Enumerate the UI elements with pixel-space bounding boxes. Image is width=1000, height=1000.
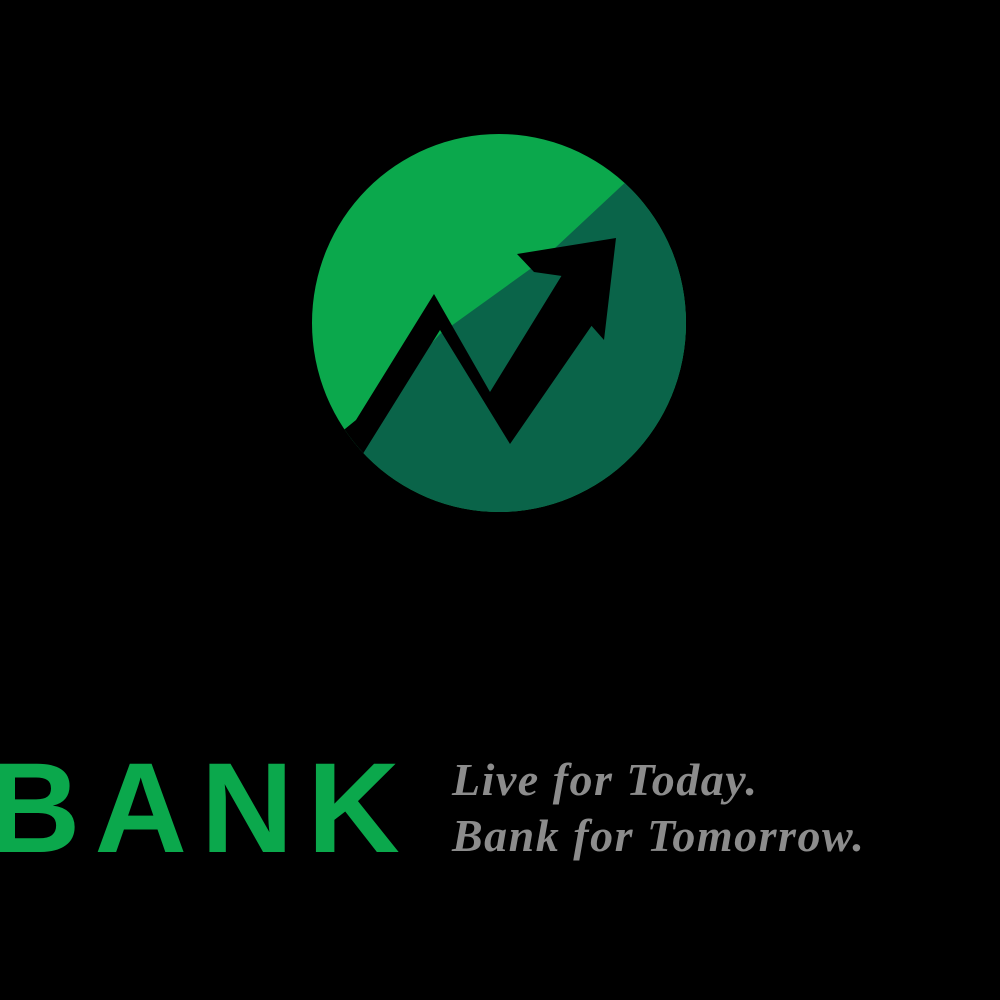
wordmark-text: BANK xyxy=(0,744,408,874)
wordmark: BANK xyxy=(0,744,408,874)
tagline-line-1: Live for Today. xyxy=(452,752,972,808)
tagline: Live for Today. Bank for Tomorrow. xyxy=(452,752,972,864)
growth-arrow-circle-logo xyxy=(312,134,686,512)
tagline-line-2: Bank for Tomorrow. xyxy=(452,808,972,864)
logo-canvas: BANK Live for Today. Bank for Tomorrow. xyxy=(0,0,1000,1000)
